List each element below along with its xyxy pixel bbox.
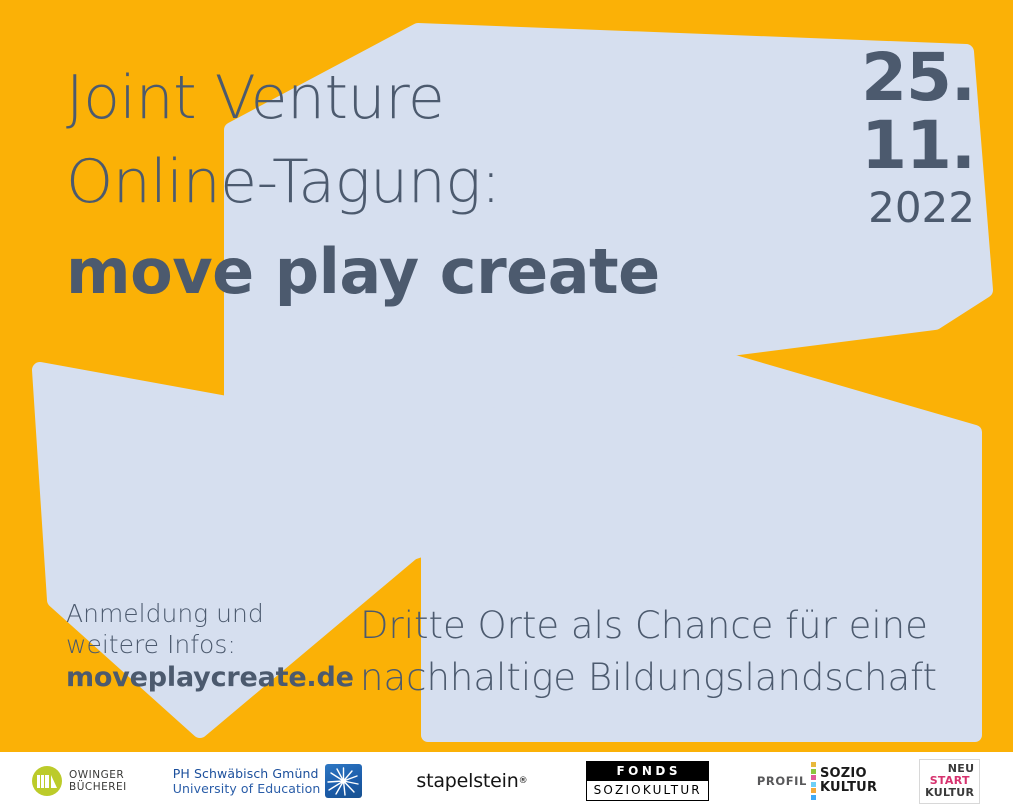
profil-line-1: SOZIO xyxy=(820,767,877,781)
profil-dots-icon xyxy=(811,762,816,800)
fonds-line-2: SOZIOKULTUR xyxy=(586,781,709,801)
subtitle: Dritte Orte als Chance für eine nachhalt… xyxy=(360,600,980,704)
owinger-line-1: OWINGER xyxy=(69,769,127,782)
date-month: 11. xyxy=(795,112,975,180)
registration-line-1: Anmeldung und xyxy=(66,598,366,629)
stapelstein-trademark-icon: ® xyxy=(519,776,528,786)
page-title: Joint Venture Online-Tagung: move play c… xyxy=(66,56,766,320)
date-day: 25. xyxy=(795,44,975,112)
sponsor-logo-bar: OWINGER BÜCHEREI PH Schwäbisch Gmünd Uni… xyxy=(0,752,1013,810)
event-date: 25. 11. 2022 xyxy=(795,44,975,236)
ph-starburst-icon xyxy=(325,764,362,798)
profil-wordmark: PROFIL xyxy=(757,774,807,788)
ph-line-1: PH Schwäbisch Gmünd xyxy=(173,766,321,781)
neustart-line-1: NEU xyxy=(925,763,974,775)
title-line-3: move play create xyxy=(66,224,766,320)
logo-owinger-buecherei: OWINGER BÜCHEREI xyxy=(32,766,127,796)
registration-line-2: weitere Infos: xyxy=(66,629,366,660)
subtitle-line-1: Dritte Orte als Chance für eine xyxy=(360,600,980,652)
title-line-1: Joint Venture xyxy=(66,56,766,140)
neustart-line-3: KULTUR xyxy=(925,787,974,799)
owinger-line-2: BÜCHEREI xyxy=(69,781,127,794)
logo-profil-soziokultur: PROFIL SOZIO KULTUR xyxy=(757,762,877,800)
stapelstein-wordmark: stapelstein xyxy=(416,770,518,792)
title-line-2: Online-Tagung: xyxy=(66,140,766,224)
profil-line-2: KULTUR xyxy=(820,781,877,795)
ph-line-2: University of Education xyxy=(173,781,321,796)
neustart-line-2: START xyxy=(925,775,974,787)
date-year: 2022 xyxy=(795,180,975,236)
poster-canvas: Joint Venture Online-Tagung: move play c… xyxy=(0,0,1013,810)
registration-url[interactable]: moveplaycreate.de xyxy=(66,660,366,696)
logo-fonds-soziokultur: FONDS SOZIOKULTUR xyxy=(586,761,709,801)
fonds-line-1: FONDS xyxy=(586,761,709,781)
logo-ph-schwaebisch-gmuend: PH Schwäbisch Gmünd University of Educat… xyxy=(173,764,363,798)
owinger-book-icon xyxy=(32,766,62,796)
subtitle-line-2: nachhaltige Bildungslandschaft xyxy=(360,652,980,704)
registration-info: Anmeldung und weitere Infos: moveplaycre… xyxy=(66,598,366,696)
logo-stapelstein: stapelstein® xyxy=(416,770,527,792)
logo-neustart-kultur: NEU START KULTUR xyxy=(919,759,980,804)
